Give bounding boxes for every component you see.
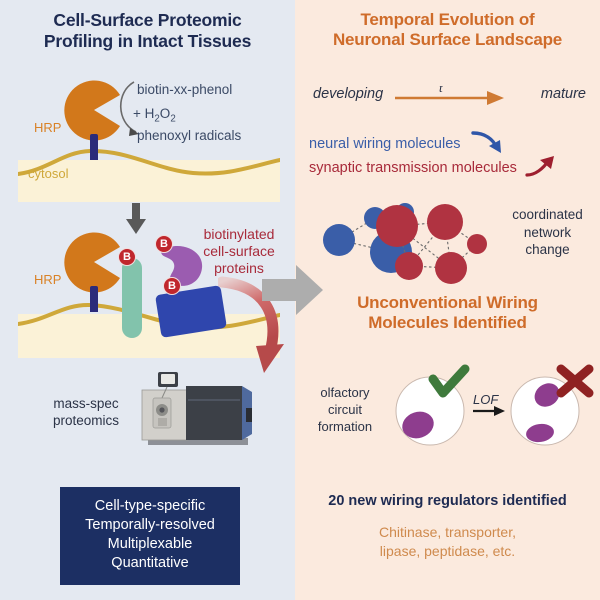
hrp-icon	[62, 232, 124, 312]
regulators-count-line: 20 new wiring regulators identified	[295, 493, 600, 509]
membrane-stage-1: cytosol	[18, 140, 280, 202]
biotin-tag: B	[118, 248, 136, 266]
trend-synaptic-transmission: synaptic transmission molecules	[309, 155, 557, 177]
right-panel-title: Temporal Evolution of Neuronal Surface L…	[295, 10, 600, 50]
summary-item: Temporally-resolved	[66, 516, 234, 535]
trend-neural-wiring-label: neural wiring molecules	[309, 136, 461, 152]
right-title-line-1: Temporal Evolution of	[295, 10, 600, 30]
left-title-line-1: Cell-Surface Proteomic	[0, 10, 295, 31]
summary-item: Cell-type-specific	[66, 497, 234, 516]
method-summary-box: Cell-type-specific Temporally-resolved M…	[60, 487, 240, 585]
hrp-label: HRP	[34, 272, 61, 287]
process-down-arrow-icon	[125, 203, 147, 235]
olfactory-line-3: formation	[305, 419, 385, 436]
trend-synaptic-label: synaptic transmission molecules	[309, 160, 517, 176]
time-arrow-icon: t	[395, 86, 505, 108]
network-change-diagram	[317, 200, 502, 288]
biotinylated-line-2: cell-surface	[185, 243, 293, 260]
biotinylated-line-1: biotinylated	[185, 226, 293, 243]
mass-spec-line-1: mass-spec	[36, 396, 136, 413]
panel-transition-arrow-icon	[262, 263, 324, 317]
summary-item: Multiplexable	[66, 535, 234, 554]
right-title-line-2: Neuronal Surface Landscape	[295, 30, 600, 50]
left-panel-title: Cell-Surface Proteomic Profiling in Inta…	[0, 10, 295, 51]
cytosol-label: cytosol	[28, 166, 68, 181]
biotin-tag: B	[163, 277, 181, 295]
olfactory-phenotype-diagram	[385, 363, 595, 455]
left-title-line-2: Profiling in Intact Tissues	[0, 31, 295, 52]
enzyme-line-1: Chitinase, transporter,	[295, 523, 600, 542]
trend-neural-wiring: neural wiring molecules	[309, 131, 505, 155]
olfactory-line-1: olfactory	[305, 385, 385, 402]
time-axis: developing mature t	[295, 78, 600, 114]
hrp-enzyme-2: HRP	[62, 232, 124, 300]
arrow-up-trend-icon	[525, 155, 557, 177]
olfactory-circuit-label: olfactory circuit formation	[305, 385, 385, 436]
network-label-line-2: network	[500, 224, 595, 242]
network-label-line-1: coordinated	[500, 206, 595, 224]
chem-product-label: phenoxyl radicals	[137, 128, 241, 143]
check-icon	[433, 369, 465, 393]
biotin-tag: B	[155, 235, 173, 253]
left-panel-method: Cell-Surface Proteomic Profiling in Inta…	[0, 0, 295, 600]
right-subtitle-line-2: Molecules Identified	[295, 313, 600, 333]
arrow-down-trend-icon	[471, 131, 505, 155]
right-panel-findings: Temporal Evolution of Neuronal Surface L…	[295, 0, 600, 600]
mass-spec-line-2: proteomics	[36, 413, 136, 430]
summary-item: Quantitative	[66, 554, 234, 573]
cross-icon	[561, 369, 589, 393]
membrane-protein-cylinder	[122, 258, 142, 338]
right-subtitle-line-1: Unconventional Wiring	[295, 293, 600, 313]
mass-spectrometer-icon	[140, 370, 258, 450]
chem-substrate-label: biotin-xx-phenol	[137, 82, 232, 97]
enzyme-line-2: lipase, peptidase, etc.	[295, 542, 600, 561]
right-panel-subtitle: Unconventional Wiring Molecules Identifi…	[295, 293, 600, 333]
mass-spec-label: mass-spec proteomics	[36, 396, 136, 430]
time-axis-end-label: mature	[541, 86, 586, 102]
enzyme-class-list: Chitinase, transporter, lipase, peptidas…	[295, 523, 600, 562]
hrp-label: HRP	[34, 120, 61, 135]
lof-label: LOF	[473, 392, 498, 407]
network-label-line-3: change	[500, 241, 595, 259]
graphical-abstract: Cell-Surface Proteomic Profiling in Inta…	[0, 0, 600, 600]
chem-cofactor-label: + H2O2	[133, 106, 176, 125]
network-change-label: coordinated network change	[500, 206, 595, 259]
olfactory-line-2: circuit	[305, 402, 385, 419]
time-axis-symbol: t	[439, 86, 443, 95]
time-axis-start-label: developing	[313, 86, 383, 102]
